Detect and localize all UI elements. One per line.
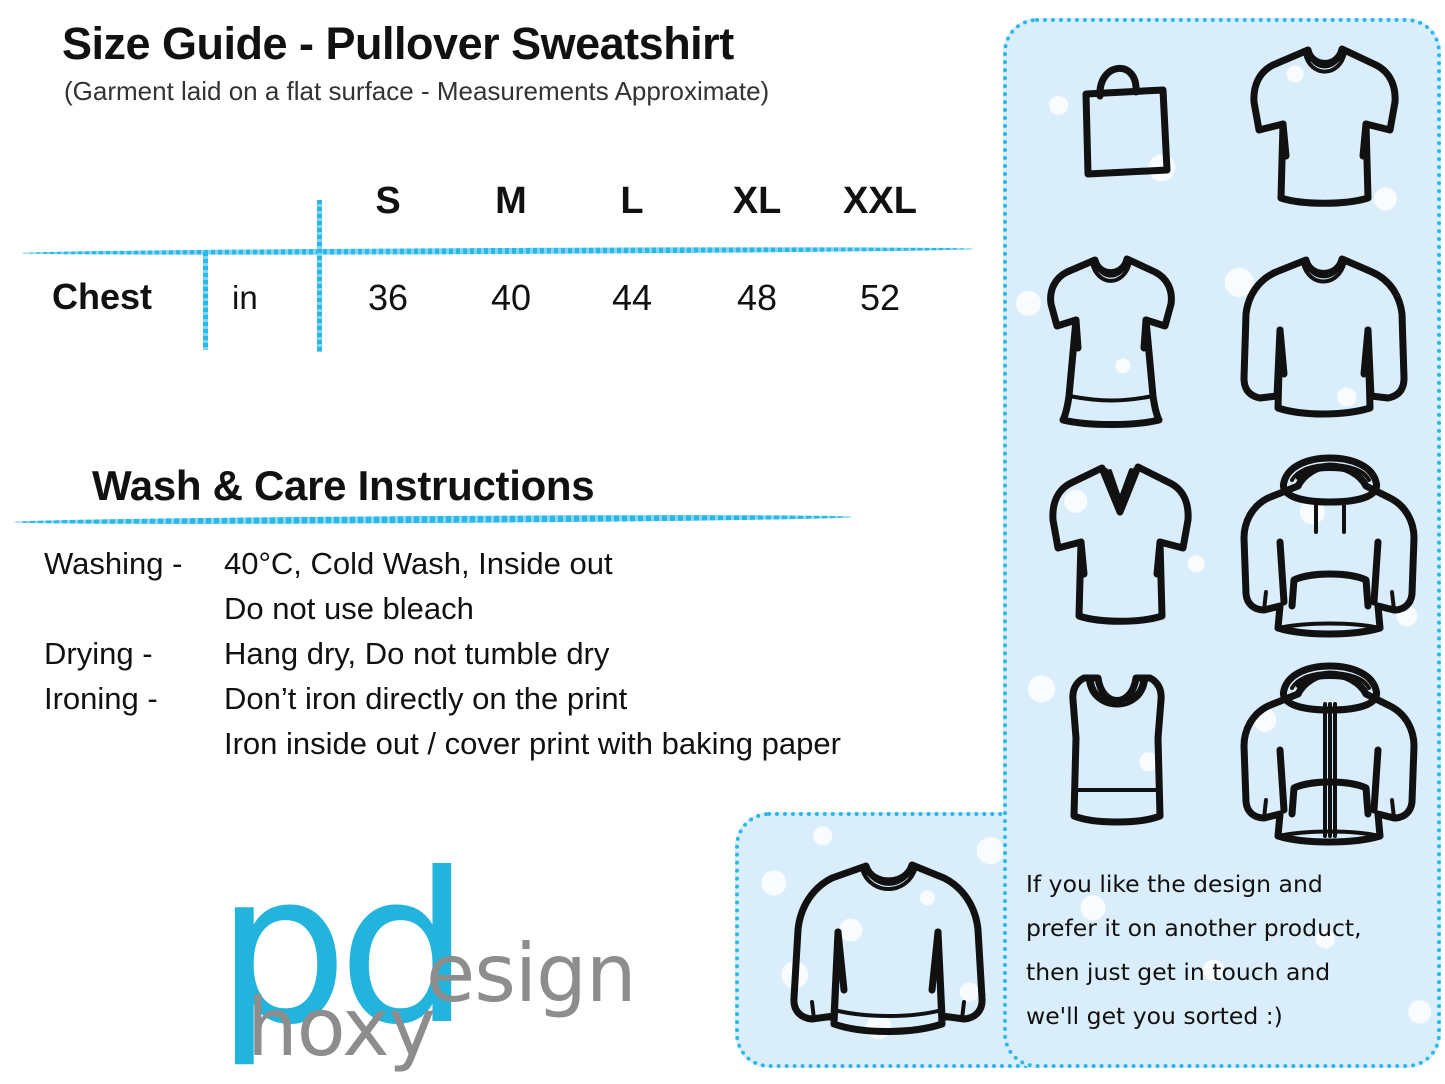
care-instructions-list: Washing - 40°C, Cold Wash, Inside out Do…: [44, 546, 1004, 771]
promo-line-2: prefer it on another product,: [1026, 906, 1418, 950]
care-underline: [14, 513, 852, 525]
pullover-hoodie-icon: [1238, 452, 1418, 644]
size-header-s: S: [328, 180, 448, 223]
zip-hoodie-icon: [1236, 660, 1420, 852]
womens-fitted-tshirt-icon: [1045, 250, 1177, 430]
care-value-ironing: Don’t iron directly on the print: [224, 681, 627, 717]
promo-text: If you like the design and prefer it on …: [1026, 862, 1418, 1038]
size-header-m: M: [451, 180, 571, 223]
table-divider-after-label: [203, 252, 208, 350]
table-horizontal-rule: [22, 246, 974, 256]
care-value-washing: 40°C, Cold Wash, Inside out: [224, 546, 613, 582]
brand-logo: pd esign hoxy: [216, 846, 616, 1056]
care-row-drying: Drying - Hang dry, Do not tumble dry: [44, 636, 1004, 681]
page-subtitle: (Garment laid on a flat surface - Measur…: [64, 76, 769, 107]
care-row-washing: Washing - 40°C, Cold Wash, Inside out: [44, 546, 1004, 591]
promo-line-1: If you like the design and: [1026, 862, 1418, 906]
care-label-washing: Washing -: [44, 546, 224, 582]
care-heading: Wash & Care Instructions: [92, 462, 594, 510]
logo-hoxy-text: hoxy: [247, 988, 435, 1068]
chest-value-m: 40: [451, 277, 571, 319]
chest-value-xxl: 52: [820, 277, 940, 319]
promo-line-4: we'll get you sorted :): [1026, 994, 1418, 1038]
chest-value-xl: 48: [697, 277, 817, 319]
promo-line-3: then just get in touch and: [1026, 950, 1418, 994]
care-label-drying: Drying -: [44, 636, 224, 672]
care-label-ironing: Ironing -: [44, 681, 224, 717]
care-value-drying: Hang dry, Do not tumble dry: [224, 636, 609, 672]
page-title: Size Guide - Pullover Sweatshirt: [62, 18, 734, 70]
care-cont-ironing: Iron inside out / cover print with bakin…: [224, 726, 1004, 771]
tote-bag-icon: [1068, 52, 1178, 177]
chest-value-l: 44: [572, 277, 692, 319]
size-header-xl: XL: [697, 180, 817, 223]
size-header-l: L: [572, 180, 692, 223]
table-divider-after-unit: [317, 200, 322, 352]
crew-neck-tshirt-icon: [1250, 38, 1398, 213]
care-cont-washing: Do not use bleach: [224, 591, 1004, 636]
table-row-label: Chest: [52, 276, 152, 318]
long-sleeve-shirt-icon: [1240, 248, 1408, 430]
care-row-ironing: Ironing - Don’t iron directly on the pri…: [44, 681, 1004, 726]
chest-value-s: 36: [328, 277, 448, 319]
pullover-sweatshirt-icon: [790, 852, 990, 1048]
size-table: Chest in S M L XL XXL 36 40 44 48 52: [0, 180, 980, 355]
size-header-xxl: XXL: [820, 180, 940, 223]
tank-top-vest-icon: [1062, 668, 1172, 834]
v-neck-tshirt-icon: [1050, 458, 1190, 633]
table-unit-cell: in: [232, 279, 258, 317]
logo-design-text: esign: [426, 934, 636, 1014]
